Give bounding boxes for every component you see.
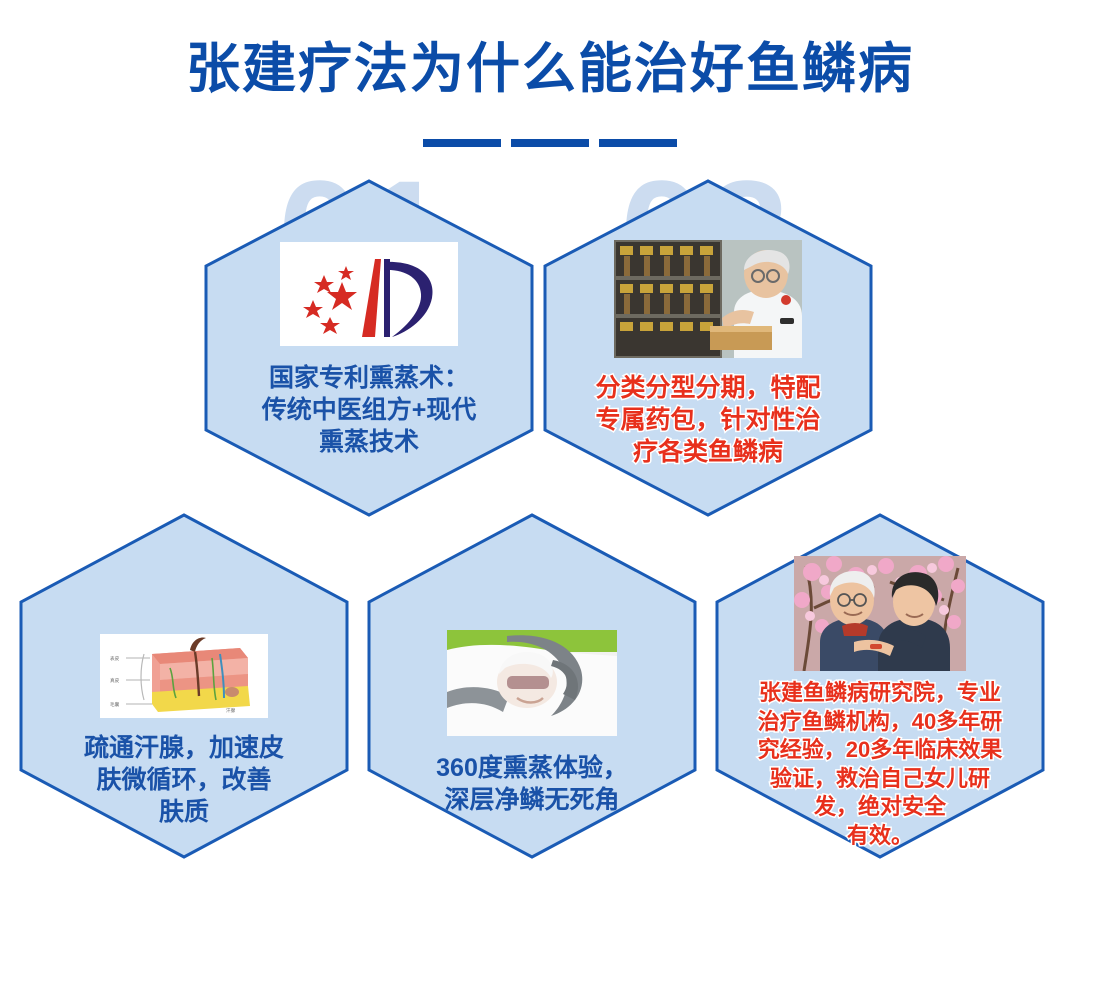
card-05-caption: 张建鱼鳞病研究院，专业 治疗鱼鳞机构，40多年研 究经验，20多年临床效果 验证… bbox=[732, 679, 1028, 851]
fumigation-bed-patient-photo bbox=[447, 630, 617, 736]
card-03-caption: 疏通汗腺，加速皮 肤微循环，改善 肤质 bbox=[34, 732, 334, 828]
card-02[interactable]: 分类分型分期，特配 专属药包，针对性治 疗各类鱼鳞病 bbox=[542, 178, 874, 518]
card-01-content: 国家专利熏蒸术： 传统中医组方+现代 熏蒸技术 bbox=[203, 178, 535, 518]
card-02-caption: 分类分型分期，特配 专属药包，针对性治 疗各类鱼鳞病 bbox=[558, 372, 858, 468]
card-04-content: 360度熏蒸体验， 深层净鳞无死角 bbox=[366, 512, 698, 860]
card-03-content: 表皮 真皮 毛囊 汗腺 疏通汗腺，加速皮 肤微循环，改善 肤质 bbox=[18, 512, 350, 860]
mother-and-daughter-photo bbox=[794, 556, 966, 671]
card-05[interactable]: 张建鱼鳞病研究院，专业 治疗鱼鳞机构，40多年研 究经验，20多年临床效果 验证… bbox=[714, 512, 1046, 860]
skin-cross-section-diagram: 表皮 真皮 毛囊 汗腺 bbox=[100, 634, 268, 718]
tcm-pharmacy-doctor-photo bbox=[614, 240, 802, 358]
card-02-content: 分类分型分期，特配 专属药包，针对性治 疗各类鱼鳞病 bbox=[542, 178, 874, 518]
svg-text:汗腺: 汗腺 bbox=[226, 707, 236, 714]
svg-text:毛囊: 毛囊 bbox=[110, 701, 120, 708]
divider-dash-1 bbox=[423, 139, 501, 147]
page-title: 张建疗法为什么能治好鱼鳞病 bbox=[0, 24, 1100, 103]
svg-text:真皮: 真皮 bbox=[110, 677, 120, 684]
card-05-content: 张建鱼鳞病研究院，专业 治疗鱼鳞机构，40多年研 究经验，20多年临床效果 验证… bbox=[714, 512, 1046, 860]
divider-dash-3 bbox=[599, 139, 677, 147]
card-04-caption: 360度熏蒸体验， 深层净鳞无死角 bbox=[382, 752, 682, 816]
card-01-caption: 国家专利熏蒸术： 传统中医组方+现代 熏蒸技术 bbox=[219, 362, 519, 458]
divider-dash-2 bbox=[511, 139, 589, 147]
card-01[interactable]: 国家专利熏蒸术： 传统中医组方+现代 熏蒸技术 bbox=[203, 178, 535, 518]
national-patent-logo bbox=[280, 242, 458, 346]
title-divider bbox=[0, 139, 1100, 149]
svg-text:表皮: 表皮 bbox=[110, 655, 120, 662]
card-03[interactable]: 表皮 真皮 毛囊 汗腺 疏通汗腺，加速皮 肤微循环，改善 肤质 bbox=[18, 512, 350, 860]
infographic-poster: 张建疗法为什么能治好鱼鳞病 01 02 03 04 05 bbox=[0, 0, 1100, 1003]
card-04[interactable]: 360度熏蒸体验， 深层净鳞无死角 bbox=[366, 512, 698, 860]
